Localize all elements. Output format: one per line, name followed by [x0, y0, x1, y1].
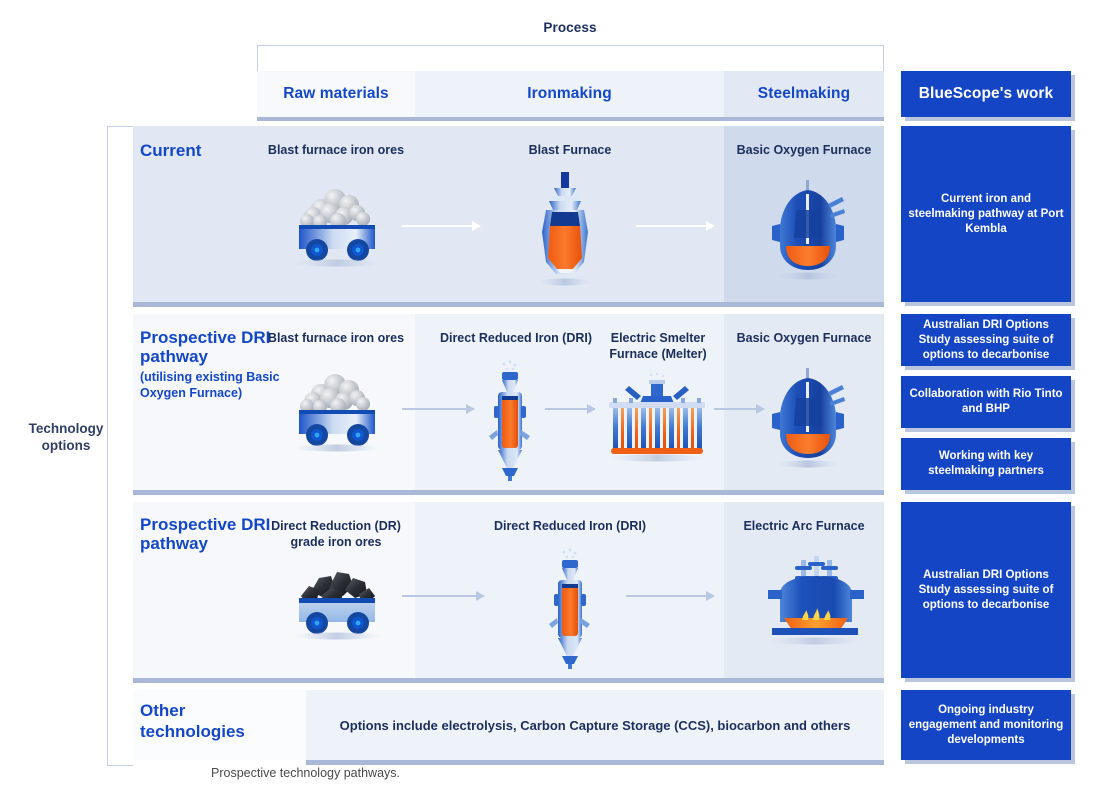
ore-wagon-grey-icon [283, 185, 391, 267]
row-title-current-main: Current [140, 141, 201, 160]
process-bracket [257, 45, 884, 71]
caption-r3-dr-grade-line2: grade iron ores [291, 535, 382, 549]
caption-r1-blast-furnace: Blast Furnace [490, 142, 650, 158]
technology-options-line2: options [42, 438, 91, 453]
caption-r3-dr-grade-line1: Direct Reduction (DR) [271, 519, 401, 533]
caption-r2-electric-smelter-line2: Furnace (Melter) [609, 347, 706, 361]
technology-options-line1: Technology [29, 421, 104, 436]
ore-wagon-dark-icon [283, 558, 391, 640]
bluescope-work-box-partners[interactable]: Working with key steelmaking partners [901, 438, 1071, 490]
technology-options-bracket [107, 126, 133, 766]
bluescope-work-box-dri-options-study[interactable]: Australian DRI Options Study assessing s… [901, 314, 1071, 366]
row-title-dri-bof-main: Prospective DRI pathway [140, 328, 270, 366]
basic-oxygen-furnace-icon [768, 366, 848, 470]
caption-r2-electric-smelter-furnace: Electric Smelter Furnace (Melter) [588, 330, 728, 362]
caption-r3-electric-arc-furnace: Electric Arc Furnace [724, 518, 884, 534]
arrow-r3-dri-to-eaf [626, 595, 714, 597]
other-technologies-description: Options include electrolysis, Carbon Cap… [306, 690, 884, 760]
caption-r1-basic-oxygen-furnace: Basic Oxygen Furnace [724, 142, 884, 158]
bluescope-work-box-collaboration[interactable]: Collaboration with Rio Tinto and BHP [901, 376, 1071, 428]
electric-smelter-icon [605, 372, 709, 464]
diagram-canvas: Process Technology options Raw materials… [0, 0, 1117, 798]
caption-r3-dr-grade-iron-ores: Direct Reduction (DR) grade iron ores [256, 518, 416, 550]
arrow-r1-iron-to-steel [636, 225, 714, 227]
caption-r2-electric-smelter-line1: Electric Smelter [611, 331, 706, 345]
row-title-dri-eaf-main: Prospective DRI pathway [140, 515, 270, 553]
row-title-dri-bof-sub: (utilising existing Basic Oxygen Furnace… [140, 369, 290, 401]
dri-shaft-icon [540, 548, 598, 670]
process-group-label: Process [256, 20, 884, 35]
row-dri-eaf-underline [133, 678, 884, 683]
arrow-r2-dri-to-smelter [545, 408, 595, 410]
row-title-other-technologies-main: Other technologies [140, 701, 245, 741]
row-other-underline [306, 760, 884, 765]
caption-r1-blast-furnace-iron-ores: Blast furnace iron ores [256, 142, 416, 158]
column-header-steelmaking[interactable]: Steelmaking [724, 71, 884, 117]
dri-shaft-icon [480, 360, 538, 482]
column-header-ironmaking[interactable]: Ironmaking [415, 71, 724, 117]
bluescope-work-box-dri-options-study-eaf[interactable]: Australian DRI Options Study assessing s… [901, 502, 1071, 678]
basic-oxygen-furnace-icon [768, 178, 848, 282]
row-title-other-technologies: Other technologies [140, 700, 290, 742]
caption-r2-direct-reduced-iron: Direct Reduced Iron (DRI) [428, 330, 604, 346]
row-dri-bof-underline [133, 490, 884, 495]
bluescope-work-box-ongoing-engagement[interactable]: Ongoing industry engagement and monitori… [901, 690, 1071, 760]
arrow-r2-smelter-to-bof [714, 408, 764, 410]
caption-r2-blast-furnace-iron-ores: Blast furnace iron ores [256, 330, 416, 346]
header-underline [257, 117, 884, 121]
ore-wagon-grey-icon [283, 370, 391, 452]
arrow-r1-raw-to-iron [402, 225, 480, 227]
column-header-bluescope-work[interactable]: BlueScope's work [901, 71, 1071, 117]
bluescope-work-box-current[interactable]: Current iron and steelmaking pathway at … [901, 126, 1071, 302]
blast-furnace-icon [530, 170, 600, 288]
figure-caption: Prospective technology pathways. [211, 766, 711, 780]
arrow-r2-raw-to-dri [402, 408, 474, 410]
caption-r3-direct-reduced-iron: Direct Reduced Iron (DRI) [480, 518, 660, 534]
row-current-underline [133, 302, 884, 307]
arrow-r3-raw-to-dri [402, 595, 484, 597]
electric-arc-furnace-icon [760, 552, 870, 648]
caption-r2-basic-oxygen-furnace: Basic Oxygen Furnace [724, 330, 884, 346]
column-header-raw-materials[interactable]: Raw materials [257, 71, 415, 117]
